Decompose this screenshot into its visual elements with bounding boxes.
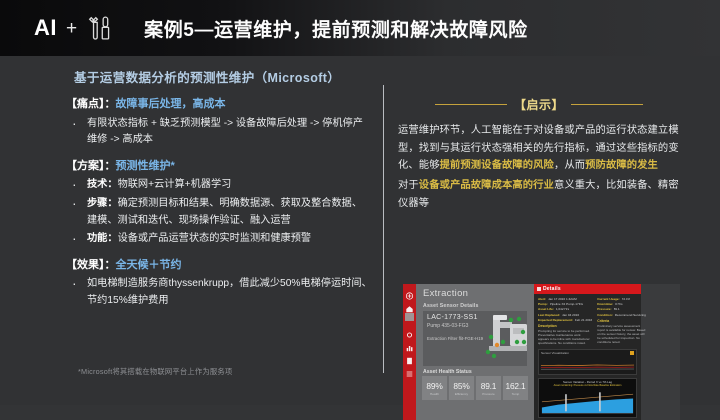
field-row: Asset Life:1,042 Hrs	[538, 307, 592, 311]
bullet-list: 如电梯制造服务商thyssenkrupp，借此减少50%电梯停运时间、节约15%…	[66, 276, 372, 309]
block-separator: ：	[105, 98, 116, 110]
add-icon[interactable]	[405, 287, 414, 295]
field-key: Current Usage:	[597, 297, 619, 301]
list-icon[interactable]	[405, 365, 414, 373]
page-title: 案例5—运营维护，提前预测和解决故障风险	[144, 15, 528, 42]
slide-body: 基于运营数据分析的预测性维护（Microsoft） 【痛点】：故障事后处理，高成…	[0, 56, 720, 405]
insight-title-row: 【启示】	[398, 96, 680, 113]
block-separator: ：	[105, 259, 116, 271]
warning-icon	[630, 351, 634, 355]
criteria-body: Preliminary service assessment report is…	[597, 324, 646, 345]
dashboard-right-panel: Details Alert:Jan 17 2016 1:42AM Pump:Pi…	[534, 284, 641, 420]
field-row: Last Replaced:Jan 04 2016	[538, 313, 592, 317]
field-value: 1,042 Hrs	[556, 307, 569, 311]
block-separator: ：	[105, 160, 116, 172]
block-bracket-label: 【方案】	[66, 160, 105, 172]
field-key: Condition:	[597, 313, 612, 317]
stat-label: Efficiency	[455, 392, 468, 396]
bullet-label: 步骤：	[87, 198, 118, 209]
field-key: Pressure:	[597, 307, 611, 311]
stat-value: 85%	[453, 381, 469, 391]
block-pain-point: 【痛点】：故障事后处理，高成本 有限状态指标 + 缺乏预测模型 -> 设备故障后…	[66, 96, 372, 149]
list-item: 技术：物联网+云计算+机器学习	[66, 177, 372, 194]
bullet-text: 设备或产品运营状态的实时监测和健康预警	[118, 233, 312, 244]
details-fields-right: Current Usage:72.1% Downtime:0 Hrs Press…	[597, 297, 646, 346]
right-content-column: 【启示】 运营维护环节，人工智能在于对设备或产品的运行状态建立模型，找到与其运行…	[398, 96, 680, 213]
chart-subtitle: Asset monitoring: Pressure vs Flow Rate …	[539, 384, 636, 387]
field-key: Expected Replacement:	[538, 318, 573, 322]
bullet-list: 有限状态指标 + 缺乏预测模型 -> 设备故障后处理 -> 停机停产维修 -> …	[66, 116, 372, 149]
field-row: Condition:Recommend Servicing	[597, 313, 646, 317]
bullet-label: 功能：	[87, 233, 118, 244]
list-item: 步骤：确定预测目标和结果、明确数据源、获取及整合数据、建模、测试和迭代、现场操作…	[66, 196, 372, 229]
chart-title: Sensor Visualization	[541, 351, 569, 355]
criteria-title: Criteria	[597, 319, 646, 323]
details-header-label: Details	[543, 286, 561, 292]
sensor-details-label: Asset Sensor Details	[423, 303, 479, 309]
asset-subtitle: Pump 435-03-FG3	[427, 323, 468, 329]
insight-highlight: 设备或产品故障成本高的行业	[419, 180, 554, 191]
insight-paragraph-1: 运营维护环节，人工智能在于对设备或产品的运行状态建立模型，找到与其运行状态强相关…	[398, 122, 680, 175]
rule-left	[435, 104, 507, 105]
alert-icon	[537, 287, 541, 291]
field-row: Pressure:89.1	[597, 307, 646, 311]
sensor-line-chart: Sensor Visualization	[538, 349, 637, 375]
field-value: 72.1%	[622, 297, 631, 301]
left-content-column: 【痛点】：故障事后处理，高成本 有限状态指标 + 缺乏预测模型 -> 设备故障后…	[66, 96, 372, 313]
list-item: 有限状态指标 + 缺乏预测模型 -> 设备故障后处理 -> 停机停产维修 -> …	[66, 116, 372, 149]
details-fields-left: Alert:Jan 17 2016 1:42AM Pump:Pipeline X…	[538, 297, 592, 346]
gear-icon[interactable]	[405, 326, 414, 334]
field-row: Alert:Jan 17 2016 1:42AM	[538, 297, 592, 301]
field-key: Pump:	[538, 302, 548, 306]
home-icon[interactable]	[405, 300, 414, 308]
brand-lockup: AI +	[34, 14, 114, 42]
report-icon[interactable]	[405, 339, 414, 347]
chart-icon[interactable]	[405, 313, 414, 321]
bullet-label: 技术：	[87, 179, 118, 190]
stat-tile: 89.1 Pressure	[476, 376, 501, 400]
block-solution: 【方案】：预测性维护* 技术：物联网+云计算+机器学习 步骤：确定预测目标和结果…	[66, 158, 372, 248]
block-heading: 【痛点】：故障事后处理，高成本	[66, 96, 372, 113]
asset-card: LAC-1773-SS1 Pump 435-03-FG3 Extraction …	[423, 311, 527, 366]
slide-subtitle: 基于运营数据分析的预测性维护（Microsoft）	[74, 67, 340, 86]
dashboard-title: Extraction	[423, 288, 468, 299]
field-key: Downtime:	[597, 302, 613, 306]
field-value: 0 Hrs	[615, 302, 622, 306]
insight-text: ，从而	[554, 160, 585, 171]
column-divider	[383, 85, 384, 373]
health-status-label: Asset Health Status	[423, 369, 472, 375]
field-value: 89.1	[614, 307, 620, 311]
insight-highlight: 预防故障的发生	[585, 160, 658, 171]
stat-value: 162.1	[506, 381, 526, 391]
stat-value: 89.1	[481, 381, 497, 391]
slide-header: AI + 案例5—运营维护，提前预测和解决故障风险	[0, 0, 720, 56]
brand-ai-text: AI	[34, 17, 57, 39]
brand-plus-text: +	[66, 19, 77, 38]
block-heading: 【方案】：预测性维护*	[66, 158, 372, 175]
list-item: 如电梯制造服务商thyssenkrupp，借此减少50%电梯停运时间、节约15%…	[66, 276, 372, 309]
block-bracket-label: 【痛点】	[66, 98, 105, 110]
stat-tile: 162.1 Temp	[503, 376, 528, 400]
field-key: Alert:	[538, 297, 546, 301]
description-body: Prompting for service to be performed. P…	[538, 329, 592, 346]
block-effect: 【效果】：全天候＋节约 如电梯制造服务商thyssenkrupp，借此减少50%…	[66, 257, 372, 310]
stat-tile: 89% Health	[422, 376, 447, 400]
bullet-text: 如电梯制造服务商thyssenkrupp，借此减少50%电梯停运时间、节约15%…	[87, 278, 372, 306]
block-value: 故障事后处理，高成本	[116, 98, 226, 110]
block-bracket-label: 【效果】	[66, 259, 105, 271]
dashboard-screenshot: Extraction Asset Sensor Details LAC-1773…	[403, 284, 680, 420]
description-title: Description	[538, 324, 592, 328]
field-value: Feb 21 2016	[575, 318, 592, 322]
dashboard-left-panel: Extraction Asset Sensor Details LAC-1773…	[416, 284, 534, 420]
stat-tile: 85% Efficiency	[449, 376, 474, 400]
insight-paragraph-2: 对于设备或产品故障成本高的行业意义重大，比如装备、精密仪器等	[398, 177, 680, 212]
field-row: Pump:Pipeline X2 Pump-17FG	[538, 302, 592, 306]
stat-label: Health	[430, 392, 439, 396]
bullet-text: 确定预测目标和结果、明确数据源、获取及整合数据、建模、测试和迭代、现场操作验证、…	[87, 198, 362, 226]
field-row: Downtime:0 Hrs	[597, 302, 646, 306]
field-key: Asset Life:	[538, 307, 554, 311]
field-value: Recommend Servicing	[615, 313, 646, 317]
dashboard-nav-rail[interactable]	[403, 284, 416, 420]
field-value: Pipeline X2 Pump-17FG	[550, 302, 583, 306]
bullet-list: 技术：物联网+云计算+机器学习 步骤：确定预测目标和结果、明确数据源、获取及整合…	[66, 177, 372, 248]
bullet-text: 物联网+云计算+机器学习	[118, 179, 232, 190]
details-fields: Alert:Jan 17 2016 1:42AM Pump:Pipeline X…	[534, 294, 641, 346]
insight-highlight: 提前预测设备故障的风险	[440, 160, 554, 171]
wrench-screwdriver-icon	[86, 14, 114, 42]
details-header: Details	[534, 284, 641, 294]
field-row: Current Usage:72.1%	[597, 297, 646, 301]
machine-diagram-icon	[467, 312, 527, 366]
field-value: Jan 17 2016 1:42AM	[548, 297, 577, 301]
footnote: *Microsoft将其搭载在物联网平台上作为服务项	[78, 367, 232, 377]
field-row: Expected Replacement:Feb 21 2016	[538, 318, 592, 322]
stat-label: Pressure	[482, 392, 494, 396]
insight-title: 【启示】	[514, 96, 564, 113]
field-key: Last Replaced:	[538, 313, 560, 317]
bullet-text: 有限状态指标 + 缺乏预测模型 -> 设备故障后处理 -> 停机停产维修 -> …	[87, 118, 363, 146]
block-value: 预测性维护*	[116, 160, 175, 172]
rule-right	[571, 104, 643, 105]
block-value: 全天候＋节约	[116, 259, 182, 271]
sensor-area-chart: Sensor Variation - Period X vs 7th Lag A…	[538, 378, 637, 418]
field-value: Jan 04 2016	[562, 313, 579, 317]
block-heading: 【效果】：全天候＋节约	[66, 257, 372, 274]
stat-value: 89%	[426, 381, 442, 391]
stat-label: Temp	[512, 392, 520, 396]
dashboard-app: Extraction Asset Sensor Details LAC-1773…	[403, 284, 641, 420]
health-stats-row: 89% Health 85% Efficiency 89.1 Pressure …	[422, 376, 528, 400]
doc-icon[interactable]	[405, 352, 414, 360]
insight-text: 对于	[398, 180, 419, 191]
list-item: 功能：设备或产品运营状态的实时监测和健康预警	[66, 231, 372, 248]
